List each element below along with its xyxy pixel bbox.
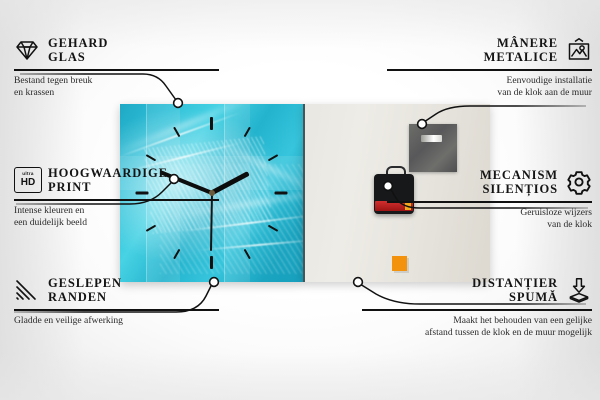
feature-hoogwaardige-print: ultra HD HOOGWAARDIGE PRINT Intense kleu… bbox=[14, 166, 219, 229]
feature-title-line2: SILENȚIOS bbox=[480, 182, 558, 196]
feature-desc-line1: Bestand tegen breuk bbox=[14, 75, 219, 87]
clock-tick bbox=[243, 127, 250, 138]
feature-desc-line2: van de klok bbox=[387, 219, 592, 231]
clock-tick bbox=[210, 256, 213, 269]
clock-tick bbox=[173, 127, 180, 138]
feature-desc-line2: en krassen bbox=[14, 87, 219, 99]
feature-title-line2: PRINT bbox=[48, 180, 168, 194]
spacer-layers-arrow-icon bbox=[566, 277, 592, 303]
feature-geslepen-randen: GESLEPEN RANDEN Gladde en veilige afwerk… bbox=[14, 276, 219, 327]
feature-title-line2: RANDEN bbox=[48, 290, 122, 304]
feature-desc-line2: een duidelijk beeld bbox=[14, 217, 219, 229]
infographic-canvas: GEHARD GLAS Bestand tegen breuk en krass… bbox=[0, 0, 600, 400]
feature-mecanism-silentios: MECANISM SILENȚIOS Geruisloze wijzers va… bbox=[387, 168, 592, 231]
feature-desc-line2: van de klok aan de muur bbox=[387, 87, 592, 99]
feature-title-line2: GLAS bbox=[48, 50, 108, 64]
metal-hanger-plate bbox=[409, 124, 457, 172]
feature-desc-line1: Intense kleuren en bbox=[14, 205, 219, 217]
feature-manere-metalice: MÂNERE METALICE Eenvoudige installatie v… bbox=[387, 36, 592, 99]
feature-distantier-spuma: DISTANȚIER SPUMĂ Maakt het behouden van … bbox=[362, 276, 592, 339]
feature-desc-line2: afstand tussen de klok en de muur mogeli… bbox=[362, 327, 592, 339]
feature-title-line1: HOOGWAARDIGE bbox=[48, 166, 168, 180]
ultra-hd-icon-big-text: HD bbox=[21, 178, 35, 188]
ground-edges-icon bbox=[14, 277, 40, 303]
feature-title-line1: MÂNERE bbox=[484, 36, 558, 50]
feature-rule bbox=[14, 309, 219, 311]
clock-tick bbox=[275, 192, 288, 195]
clock-tick bbox=[267, 225, 278, 232]
feature-rule bbox=[14, 199, 219, 201]
feature-title-line1: GEHARD bbox=[48, 36, 108, 50]
feature-title-line2: SPUMĂ bbox=[472, 290, 558, 304]
feature-title-line2: METALICE bbox=[484, 50, 558, 64]
gear-icon bbox=[566, 169, 592, 195]
clock-tick bbox=[267, 154, 278, 161]
feature-desc-line1: Eenvoudige installatie bbox=[387, 75, 592, 87]
ultra-hd-icon: ultra HD bbox=[14, 167, 40, 193]
feature-rule bbox=[14, 69, 219, 71]
feature-gehard-glas: GEHARD GLAS Bestand tegen breuk en krass… bbox=[14, 36, 219, 99]
feature-title-line1: GESLEPEN bbox=[48, 276, 122, 290]
feature-desc-line1: Gladde en veilige afwerking bbox=[14, 315, 219, 327]
feature-desc-line1: Maakt het behouden van een gelijke bbox=[362, 315, 592, 327]
clock-tick bbox=[145, 154, 156, 161]
picture-frame-hanger-icon bbox=[566, 37, 592, 63]
feature-rule bbox=[362, 309, 592, 311]
foam-spacer bbox=[392, 256, 407, 271]
clock-tick bbox=[210, 117, 213, 130]
clock-tick bbox=[173, 249, 180, 260]
feature-rule bbox=[387, 69, 592, 71]
feature-title-line1: MECANISM bbox=[480, 168, 558, 182]
panel-seam bbox=[303, 104, 305, 282]
diamond-icon bbox=[14, 37, 40, 63]
feature-rule bbox=[387, 201, 592, 203]
feature-desc-line1: Geruisloze wijzers bbox=[387, 207, 592, 219]
feature-title-line1: DISTANȚIER bbox=[472, 276, 558, 290]
clock-tick bbox=[243, 249, 250, 260]
